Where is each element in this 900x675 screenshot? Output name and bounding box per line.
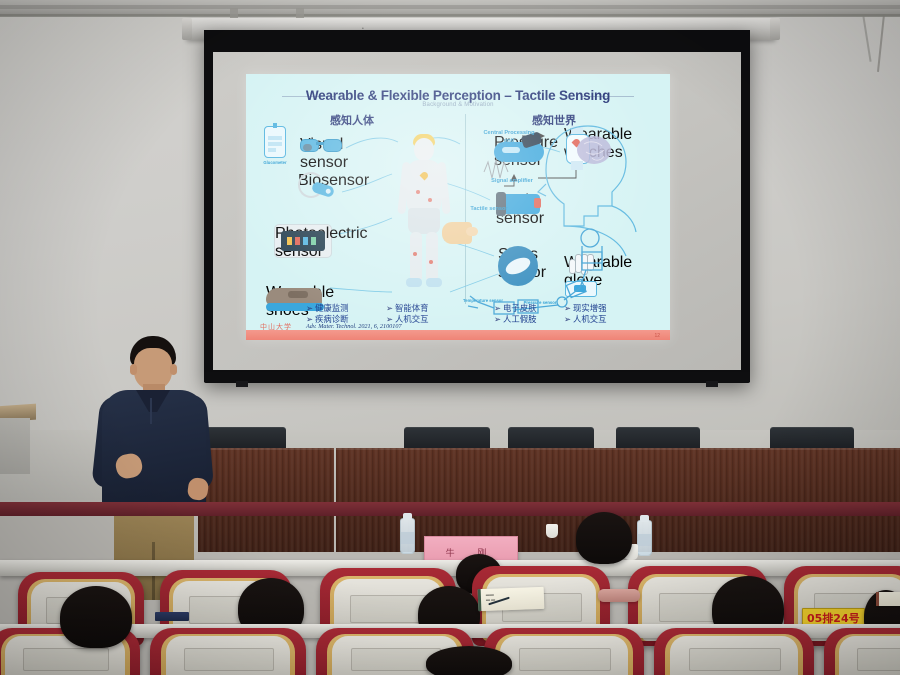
- slide-footer-bar: 12: [246, 330, 670, 340]
- podium-panel-left: [198, 448, 334, 552]
- bullet-text: 人机交互: [573, 314, 607, 324]
- screen-weight-bar-left: [236, 381, 248, 387]
- sinus-sensor-icon: Sinus sensor: [498, 246, 538, 286]
- column-divider: [465, 114, 466, 304]
- projection-screen-bottom-bar: [204, 372, 750, 383]
- pencil-case: [598, 589, 640, 602]
- wearable-glove-icon: Wearable glove: [564, 254, 598, 300]
- slide-subtitle: Background & Motivation: [246, 102, 670, 108]
- bullet-text: 电子皮肤: [503, 303, 537, 313]
- seat-row2-5[interactable]: [654, 628, 814, 675]
- glucometer-icon: Glucometer: [264, 126, 286, 158]
- bullet-text: 智能体育: [395, 303, 429, 313]
- presenter-placket: [150, 398, 152, 424]
- bullet-row: ➢人机交互: [564, 313, 607, 325]
- audience-head-row2-1: [60, 586, 132, 648]
- signal-amplifier-label: Signal amplifier: [486, 178, 538, 186]
- presenter-ear-left: [130, 364, 137, 375]
- seat-row2-6[interactable]: [824, 628, 900, 675]
- presenter-ear-right: [170, 364, 177, 375]
- presenter: [88, 336, 218, 586]
- biosensor-icon: Biosensor: [298, 172, 336, 202]
- side-table-body: [0, 418, 30, 474]
- photoelectric-sensor-icon: Photoelectric sensor: [274, 224, 332, 258]
- central-processing-unit-label: Central Processing unit: [480, 130, 538, 145]
- notebook-right: [876, 592, 900, 606]
- visual-sensor-icon: Visual sensor: [300, 136, 342, 152]
- human-finger-icon: [442, 222, 472, 244]
- bullet-text: 人工假肢: [503, 314, 537, 324]
- open-notebook: ▬▬▬ ▬: [478, 587, 545, 611]
- strain-sensor-icon: Strain sensor: [496, 192, 544, 218]
- blue-notebook: [155, 612, 189, 621]
- bullet-marker-icon: ➢: [494, 314, 503, 324]
- university-logo: 中山大学: [260, 322, 292, 332]
- lecture-hall-photo: • Wearable & Flexible Perception – Tacti…: [0, 0, 900, 675]
- water-bottle-1: [400, 518, 415, 554]
- slide-page-number: 12: [654, 333, 660, 339]
- ceiling-seam: [0, 14, 900, 17]
- tactile-sensor-label: Tactile sensor: [468, 206, 510, 214]
- slide-citation: Adv. Mater. Technol. 2021, 6, 2100107: [306, 323, 402, 330]
- ceiling-conduit: [0, 5, 900, 9]
- bullet-text: 现实增强: [573, 303, 607, 313]
- bullet-text: 健康监测: [315, 303, 349, 313]
- projected-slide: Wearable & Flexible Perception – Tactile…: [246, 74, 670, 340]
- bullet-marker-icon: ➢: [564, 314, 573, 324]
- bullet-row: ➢人工假肢: [494, 313, 537, 325]
- left-column-heading: 感知人体: [330, 112, 374, 128]
- slide-title: Wearable & Flexible Perception – Tactile…: [246, 88, 670, 103]
- seat-row2-2[interactable]: [150, 628, 306, 675]
- bullet-marker-icon: ➢: [564, 303, 573, 313]
- water-bottle-2: [637, 520, 652, 556]
- screen-weight-bar-right: [706, 381, 718, 387]
- wearable-watch-icon: Wearable watches: [564, 126, 590, 170]
- stage-front-rail: [0, 502, 900, 516]
- human-body-figure: [396, 128, 452, 288]
- glucometer-label: Glucometer: [263, 160, 286, 165]
- audience-head-far-1: [576, 512, 632, 564]
- bullet-marker-icon: ➢: [494, 303, 503, 313]
- paper-cup-2: [546, 524, 558, 538]
- bullet-marker-icon: ➢: [386, 303, 395, 313]
- bullet-marker-icon: ➢: [306, 303, 315, 313]
- presenter-hand-right: [187, 477, 210, 502]
- housing-cap-left: [182, 18, 192, 40]
- audience-head-row2-2: [426, 646, 512, 675]
- housing-cap-right: [770, 18, 780, 40]
